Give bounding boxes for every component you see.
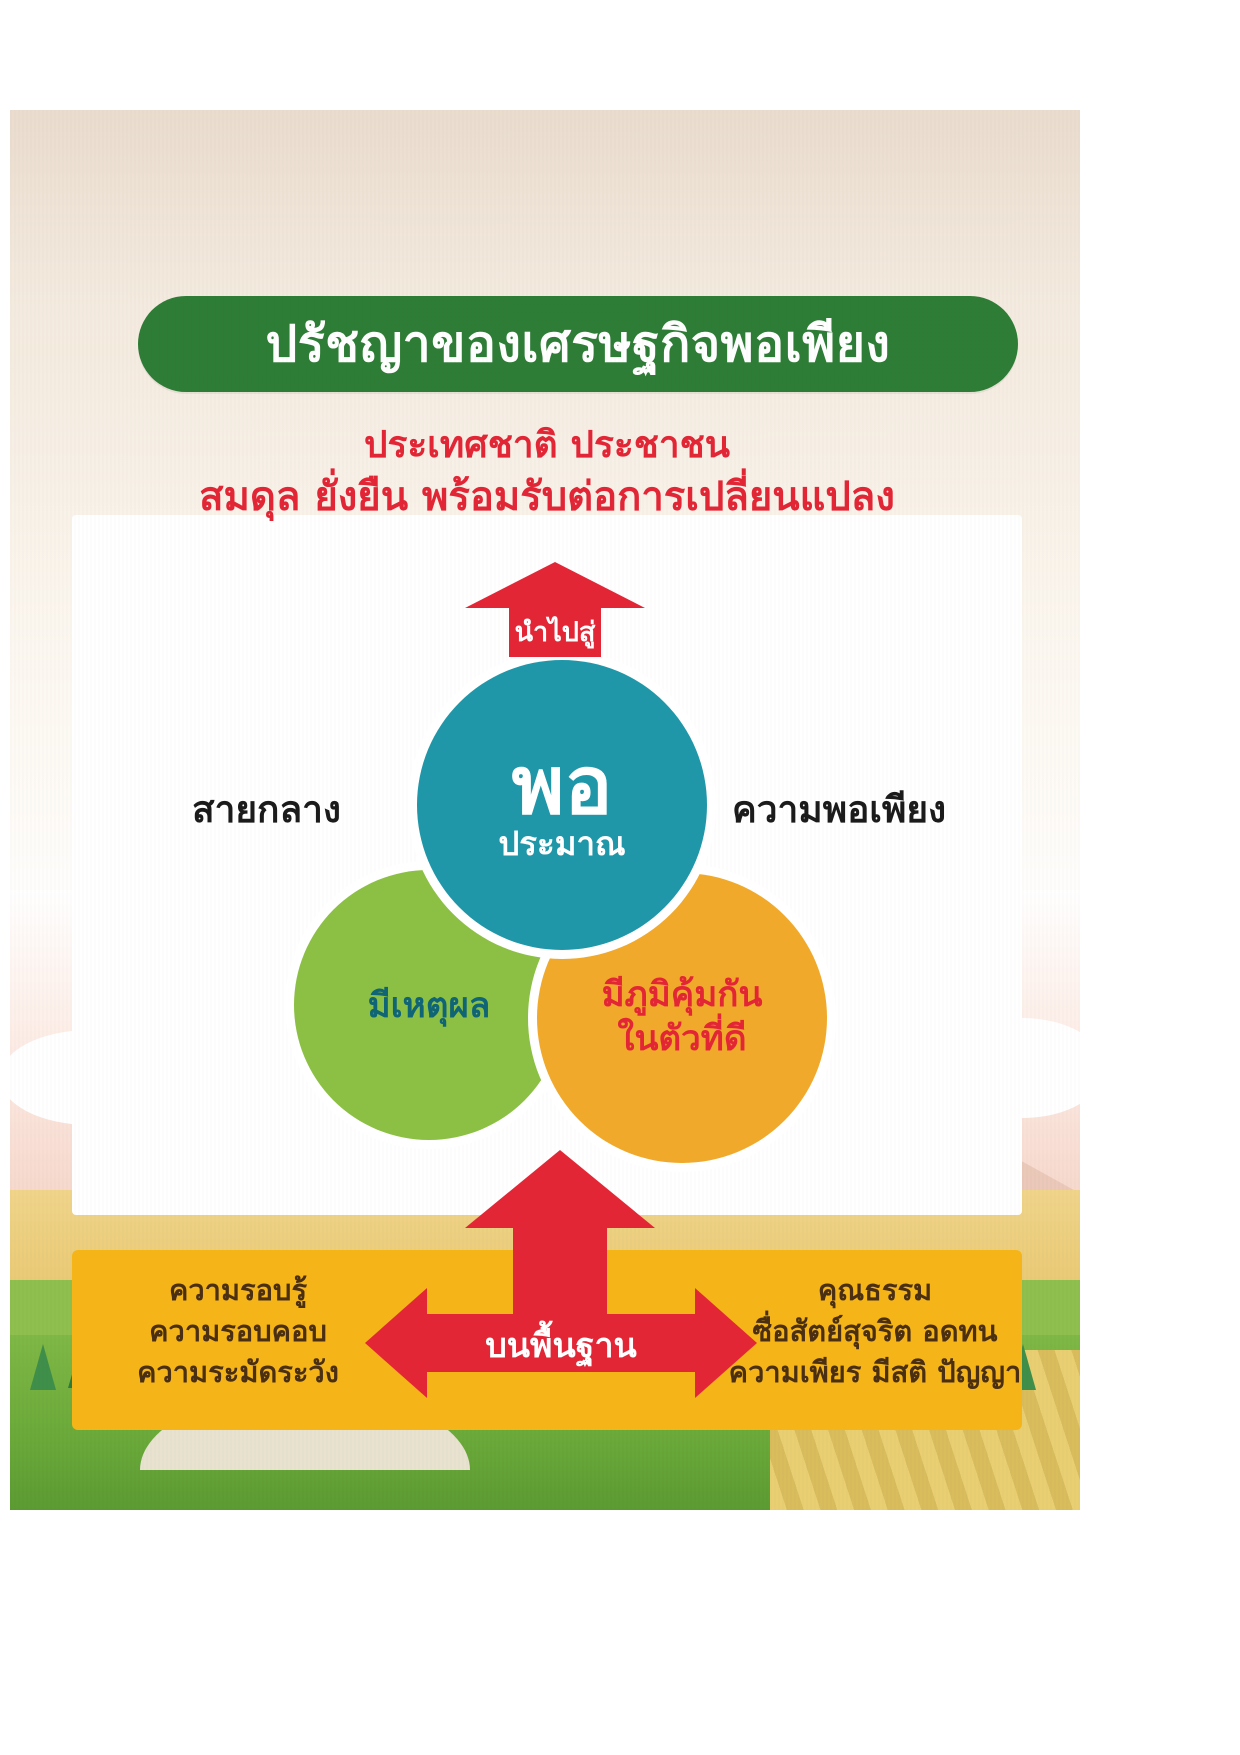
foundation-right-line-3: ความเพียร มีสติ ปัญญา: [710, 1352, 1040, 1393]
side-label-left: สายกลาง: [192, 780, 341, 839]
foundation-double-arrow: บนพื้นฐาน: [365, 1288, 757, 1398]
foundation-left-line-1: ความรอบรู้: [88, 1270, 388, 1311]
circle-moderation-big-label: พอ: [512, 748, 613, 824]
arrow-up-icon: [465, 562, 645, 608]
leads-to-label: นำไปสู่: [465, 610, 645, 653]
subtitle-block: ประเทศชาติ ประชาชน สมดุล ยั่งยืน พร้อมรั…: [72, 420, 1022, 524]
foundation-right-text: คุณธรรม ซื่อสัตย์สุจริต อดทน ความเพียร ม…: [710, 1270, 1040, 1394]
circle-self-immunity-line-1: มีภูมิคุ้มกัน: [602, 974, 763, 1018]
page-title: ปรัชญาของเศรษฐกิจพอเพียง: [266, 319, 891, 369]
tree-icon: [30, 1344, 56, 1390]
foundation-center-label: บนพื้นฐาน: [365, 1318, 757, 1372]
side-label-right: ความพอเพียง: [732, 780, 946, 839]
foundation-left-line-2: ความรอบคอบ: [88, 1311, 388, 1352]
subtitle-line-1: ประเทศชาติ ประชาชน: [72, 420, 1022, 470]
foundation-left-line-3: ความระมัดระวัง: [88, 1352, 388, 1393]
arrow-up-icon: [465, 1150, 655, 1228]
circle-moderation-small-label: ประมาณ: [498, 826, 625, 862]
leads-to-arrow: นำไปสู่: [465, 562, 645, 657]
foundation-right-line-2: ซื่อสัตย์สุจริต อดทน: [710, 1311, 1040, 1352]
scanned-sheet: ปรัชญาของเศรษฐกิจพอเพียง ประเทศชาติ ประช…: [10, 110, 1080, 1510]
circle-self-immunity-line-2: ในตัวที่ดี: [602, 1018, 763, 1062]
foundation-left-text: ความรอบรู้ ความรอบคอบ ความระมัดระวัง: [88, 1270, 388, 1394]
title-banner: ปรัชญาของเศรษฐกิจพอเพียง: [138, 296, 1018, 392]
circle-moderation: พอ ประมาณ: [417, 660, 707, 950]
poster-page: ปรัชญาของเศรษฐกิจพอเพียง ประเทศชาติ ประช…: [0, 0, 1240, 1755]
foundation-right-line-1: คุณธรรม: [710, 1270, 1040, 1311]
circle-reasonableness-label: มีเหตุผล: [368, 978, 491, 1033]
